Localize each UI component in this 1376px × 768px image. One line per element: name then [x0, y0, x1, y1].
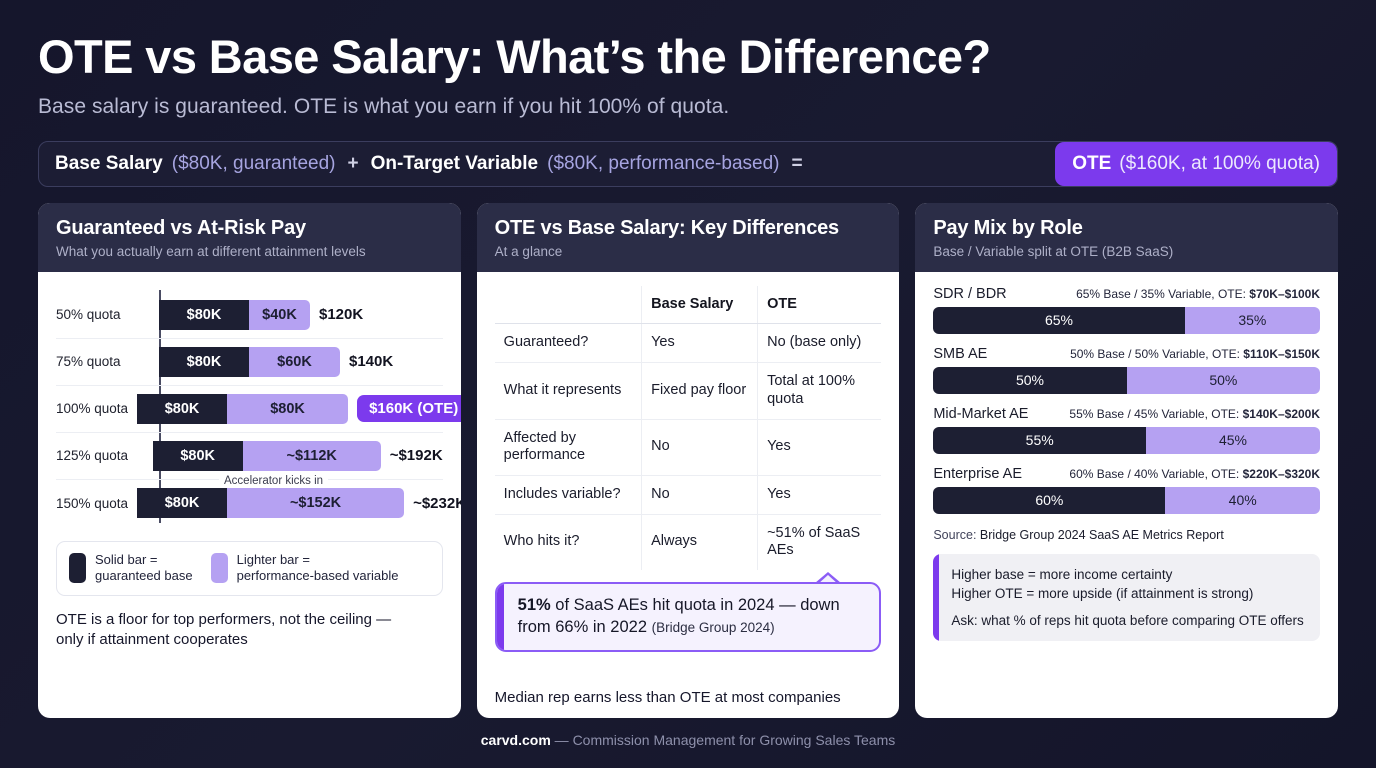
bar-segment-base: $80K	[153, 441, 243, 471]
pay-mix-base-segment: 65%	[933, 307, 1184, 334]
pay-mix-row-header: SMB AE50% Base / 50% Variable, OTE: $110…	[933, 346, 1320, 362]
card3-body: SDR / BDR65% Base / 35% Variable, OTE: $…	[915, 272, 1338, 718]
bar-segment-variable: $40K	[249, 300, 310, 330]
table-row: Includes variable?NoYes	[495, 475, 882, 514]
card-key-differences: OTE vs Base Salary: Key Differences At a…	[477, 203, 900, 718]
legend-base-text: Solid bar = guaranteed base	[95, 552, 193, 585]
formula-ote-term: OTE	[1072, 153, 1111, 175]
pay-mix-variable-segment: 50%	[1127, 367, 1320, 394]
card3-title: Pay Mix by Role	[933, 217, 1320, 240]
legend-swatch-light-icon	[211, 553, 228, 583]
card2-footnote: Median rep earns less than OTE at most c…	[495, 677, 882, 706]
pay-mix-source-label: Source:	[933, 528, 976, 542]
formula-base-detail: ($80K, guaranteed)	[172, 153, 336, 175]
bar-total-label: $140K	[349, 353, 393, 370]
table-row: Guaranteed?YesNo (base only)	[495, 324, 882, 363]
pay-mix-variable-segment: 45%	[1146, 427, 1320, 454]
cell-attribute: Who hits it?	[495, 514, 642, 570]
footer-tagline: — Commission Management for Growing Sale…	[551, 732, 895, 748]
pay-mix-row: Mid-Market AE55% Base / 45% Variable, OT…	[933, 406, 1320, 454]
pay-mix-row-header: Mid-Market AE55% Base / 45% Variable, OT…	[933, 406, 1320, 422]
pay-mix-source-value: Bridge Group 2024 SaaS AE Metrics Report	[980, 528, 1224, 542]
bar-total-label: ~$232K	[413, 495, 461, 512]
card1-title: Guaranteed vs At-Risk Pay	[56, 217, 443, 240]
tip-line-2: Higher OTE = more upside (if attainment …	[951, 584, 1307, 603]
pay-mix-split-text: 65% Base / 35% Variable, OTE:	[1076, 287, 1249, 301]
key-differences-table: Base Salary OTE Guaranteed?YesNo (base o…	[495, 286, 882, 570]
legend-item-base: Solid bar = guaranteed base	[69, 552, 193, 585]
card2-title: OTE vs Base Salary: Key Differences	[495, 217, 882, 240]
pay-mix-row: SMB AE50% Base / 50% Variable, OTE: $110…	[933, 346, 1320, 394]
card1-footnote-line1: OTE is a floor for top performers, not t…	[56, 610, 443, 630]
card-guaranteed-vs-at-risk: Guaranteed vs At-Risk Pay What you actua…	[38, 203, 461, 718]
pay-mix-bar: 50%50%	[933, 367, 1320, 394]
pay-mix-bar: 55%45%	[933, 427, 1320, 454]
attainment-bar-track: $80K~$152K~$232K	[137, 488, 461, 518]
cell-ote: ~51% of SaaS AEs	[758, 514, 882, 570]
cell-ote: Yes	[758, 419, 882, 475]
bar-segment-variable: ~$152K	[227, 488, 404, 518]
cell-attribute: Affected by performance	[495, 419, 642, 475]
pay-mix-row: SDR / BDR65% Base / 35% Variable, OTE: $…	[933, 286, 1320, 334]
legend-item-variable: Lighter bar = performance-based variable	[211, 552, 399, 585]
tip-line-1: Higher base = more income certainty	[951, 565, 1307, 584]
bar-segment-variable: ~$112K	[243, 441, 381, 471]
pay-mix-tips: Higher base = more income certainty High…	[933, 554, 1320, 641]
card1-footnote-line2: only if attainment cooperates	[56, 630, 443, 650]
ote-formula-bar: Base Salary ($80K, guaranteed) + On-Targ…	[38, 141, 1338, 187]
cell-base-salary: No	[642, 475, 758, 514]
pay-mix-row-header: SDR / BDR65% Base / 35% Variable, OTE: $…	[933, 286, 1320, 302]
attainment-row-label: 100% quota	[56, 401, 137, 416]
tip-line-3: Ask: what % of reps hit quota before com…	[951, 611, 1307, 630]
table-row: What it representsFixed pay floorTotal a…	[495, 363, 882, 419]
legend-base-line1: Solid bar =	[95, 552, 193, 569]
callout-source: (Bridge Group 2024)	[652, 620, 775, 635]
card2-subtitle: At a glance	[495, 244, 882, 259]
cell-ote: Total at 100% quota	[758, 363, 882, 419]
legend-base-line2: guaranteed base	[95, 568, 193, 585]
formula-ote-detail: ($160K, at 100% quota)	[1119, 153, 1320, 175]
legend-variable-line2: performance-based variable	[237, 568, 399, 585]
pay-mix-meta: 55% Base / 45% Variable, OTE: $140K–$200…	[1069, 407, 1320, 421]
pay-mix-meta: 50% Base / 50% Variable, OTE: $110K–$150…	[1070, 347, 1320, 361]
bar-segment-base: $80K	[137, 488, 227, 518]
table-row: Affected by performanceNoYes	[495, 419, 882, 475]
pay-mix-meta: 65% Base / 35% Variable, OTE: $70K–$100K	[1076, 287, 1320, 301]
bar-total-ote-badge: $160K (OTE)	[357, 395, 461, 422]
card1-body: 50% quota$80K$40K$120K75% quota$80K$60K$…	[38, 272, 461, 718]
column-header-ote: OTE	[758, 286, 882, 324]
card1-subtitle: What you actually earn at different atta…	[56, 244, 443, 259]
pay-mix-ote-range: $220K–$320K	[1243, 467, 1320, 481]
infographic-page: OTE vs Base Salary: What’s the Differenc…	[0, 0, 1376, 768]
pay-mix-ote-range: $140K–$200K	[1243, 407, 1320, 421]
pay-mix-bar: 60%40%	[933, 487, 1320, 514]
attainment-bar-track: $80K$80K$160K (OTE)	[137, 394, 461, 424]
card2-header: OTE vs Base Salary: Key Differences At a…	[477, 203, 900, 272]
attainment-bar-track: $80K~$112K~$192K	[153, 441, 443, 471]
attainment-row-label: 50% quota	[56, 307, 159, 322]
attainment-row-label: 75% quota	[56, 354, 159, 369]
pay-mix-base-segment: 50%	[933, 367, 1126, 394]
pay-mix-base-segment: 60%	[933, 487, 1165, 514]
attainment-bar-row: 75% quota$80K$60K$140K	[56, 339, 443, 386]
bar-segment-base: $80K	[137, 394, 227, 424]
card3-subtitle: Base / Variable split at OTE (B2B SaaS)	[933, 244, 1320, 259]
pay-mix-bar: 65%35%	[933, 307, 1320, 334]
bar-total-label: ~$192K	[390, 447, 443, 464]
cell-base-salary: Always	[642, 514, 758, 570]
formula-equals-operator: =	[791, 153, 802, 175]
bar-segment-base: $80K	[159, 300, 249, 330]
attainment-bar-chart: 50% quota$80K$40K$120K75% quota$80K$60K$…	[56, 286, 443, 527]
table-row: Who hits it?Always~51% of SaaS AEs	[495, 514, 882, 570]
cards-row: Guaranteed vs At-Risk Pay What you actua…	[38, 203, 1338, 718]
bar-total-label: $120K	[319, 306, 363, 323]
attainment-bar-row: 150% quota$80K~$152K~$232K	[56, 480, 443, 527]
bar-segment-base: $80K	[159, 347, 249, 377]
cell-base-salary: Fixed pay floor	[642, 363, 758, 419]
pay-mix-row-header: Enterprise AE60% Base / 40% Variable, OT…	[933, 466, 1320, 482]
page-footer: carvd.com — Commission Management for Gr…	[38, 732, 1338, 748]
cell-attribute: Guaranteed?	[495, 324, 642, 363]
formula-result-badge: OTE ($160K, at 100% quota)	[1055, 142, 1337, 186]
bar-segment-variable: $80K	[227, 394, 348, 424]
pay-mix-role: Enterprise AE	[933, 466, 1022, 482]
legend-swatch-dark-icon	[69, 553, 86, 583]
callout-text: 51% of SaaS AEs hit quota in 2024 — down…	[513, 595, 866, 639]
cell-base-salary: Yes	[642, 324, 758, 363]
attainment-bar-track: $80K$60K$140K	[159, 347, 393, 377]
cell-base-salary: No	[642, 419, 758, 475]
formula-plus-operator: +	[347, 153, 358, 175]
formula-variable-term: On-Target Variable	[371, 153, 539, 175]
formula-variable-detail: ($80K, performance-based)	[547, 153, 779, 175]
pay-mix-ote-range: $70K–$100K	[1249, 287, 1320, 301]
attainment-row-label: 125% quota	[56, 448, 153, 463]
attainment-bar-row: 125% quota$80K~$112K~$192KAccelerator ki…	[56, 433, 443, 480]
legend-variable-line1: Lighter bar =	[237, 552, 399, 569]
cell-ote: No (base only)	[758, 324, 882, 363]
cell-attribute: What it represents	[495, 363, 642, 419]
formula-base-term: Base Salary	[55, 153, 163, 175]
quota-callout: 51% of SaaS AEs hit quota in 2024 — down…	[495, 582, 882, 653]
card1-header: Guaranteed vs At-Risk Pay What you actua…	[38, 203, 461, 272]
pay-mix-variable-segment: 40%	[1165, 487, 1320, 514]
pay-mix-base-segment: 55%	[933, 427, 1146, 454]
pay-mix-source: Source: Bridge Group 2024 SaaS AE Metric…	[933, 528, 1320, 542]
page-subtitle: Base salary is guaranteed. OTE is what y…	[38, 95, 1338, 119]
page-title: OTE vs Base Salary: What’s the Differenc…	[38, 0, 1338, 83]
card1-footnote: OTE is a floor for top performers, not t…	[56, 610, 443, 651]
table-header-row: Base Salary OTE	[495, 286, 882, 324]
attainment-bar-track: $80K$40K$120K	[159, 300, 363, 330]
legend-variable-text: Lighter bar = performance-based variable	[237, 552, 399, 585]
card2-body: Base Salary OTE Guaranteed?YesNo (base o…	[477, 272, 900, 718]
footer-brand: carvd.com	[481, 732, 551, 748]
attainment-bar-row: 100% quota$80K$80K$160K (OTE)	[56, 386, 443, 433]
pay-mix-role: SDR / BDR	[933, 286, 1006, 302]
card3-header: Pay Mix by Role Base / Variable split at…	[915, 203, 1338, 272]
pay-mix-split-text: 60% Base / 40% Variable, OTE:	[1069, 467, 1242, 481]
pay-mix-role: SMB AE	[933, 346, 987, 362]
formula-expression: Base Salary ($80K, guaranteed) + On-Targ…	[39, 153, 822, 175]
pay-mix-chart: SDR / BDR65% Base / 35% Variable, OTE: $…	[933, 286, 1320, 526]
bar-legend: Solid bar = guaranteed base Lighter bar …	[56, 541, 443, 596]
quota-callout-wrapper: 51% of SaaS AEs hit quota in 2024 — down…	[495, 582, 882, 653]
column-header-base-salary: Base Salary	[642, 286, 758, 324]
card-pay-mix-by-role: Pay Mix by Role Base / Variable split at…	[915, 203, 1338, 718]
pay-mix-variable-segment: 35%	[1185, 307, 1320, 334]
pay-mix-split-text: 50% Base / 50% Variable, OTE:	[1070, 347, 1243, 361]
pay-mix-meta: 60% Base / 40% Variable, OTE: $220K–$320…	[1069, 467, 1320, 481]
pay-mix-split-text: 55% Base / 45% Variable, OTE:	[1069, 407, 1242, 421]
bar-segment-variable: $60K	[249, 347, 340, 377]
cell-ote: Yes	[758, 475, 882, 514]
pay-mix-role: Mid-Market AE	[933, 406, 1028, 422]
column-header-attribute	[495, 286, 642, 324]
cell-attribute: Includes variable?	[495, 475, 642, 514]
pay-mix-ote-range: $110K–$150K	[1243, 347, 1320, 361]
attainment-bar-row: 50% quota$80K$40K$120K	[56, 292, 443, 339]
callout-bold-stat: 51%	[518, 596, 551, 614]
pay-mix-row: Enterprise AE60% Base / 40% Variable, OT…	[933, 466, 1320, 514]
attainment-row-label: 150% quota	[56, 496, 137, 511]
